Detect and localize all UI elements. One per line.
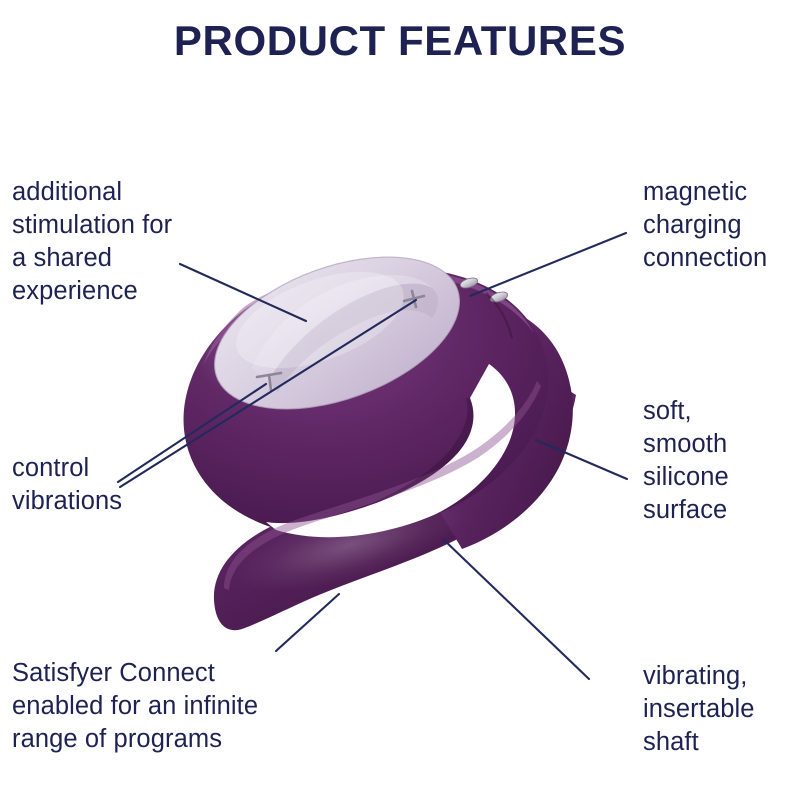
label-soft-smooth-silicone: soft, smooth silicone surface [643, 395, 729, 527]
label-control-vibrations: control vibrations [12, 452, 122, 518]
label-line: soft, [643, 395, 729, 428]
label-line: shaft [643, 726, 755, 759]
label-line: connection [643, 242, 767, 275]
label-line: insertable [643, 693, 755, 726]
label-line: charging [643, 209, 767, 242]
label-line: stimulation for [12, 209, 172, 242]
leader-vibrating-shaft [443, 539, 589, 679]
label-additional-stimulation: additional stimulation for a shared expe… [12, 176, 172, 308]
label-line: magnetic [643, 176, 767, 209]
label-line: vibrating, [643, 660, 755, 693]
product-body [177, 227, 576, 630]
label-line: experience [12, 275, 172, 308]
label-line: smooth [643, 428, 729, 461]
label-line: silicone [643, 461, 729, 494]
label-vibrating-shaft: vibrating, insertable shaft [643, 660, 755, 759]
label-magnetic-charging: magnetic charging connection [643, 176, 767, 275]
label-line: additional [12, 176, 172, 209]
label-line: a shared [12, 242, 172, 275]
product-features-infographic: PRODUCT FEATURES [0, 0, 800, 800]
label-line: surface [643, 494, 729, 527]
label-line: Satisfyer Connect [12, 657, 258, 690]
label-line: range of programs [12, 723, 258, 756]
label-line: vibrations [12, 485, 122, 518]
label-line: enabled for an infinite [12, 690, 258, 723]
label-line: control [12, 452, 122, 485]
leader-magnetic-charging [470, 233, 626, 296]
label-satisfyer-connect: Satisfyer Connect enabled for an infinit… [12, 657, 258, 756]
